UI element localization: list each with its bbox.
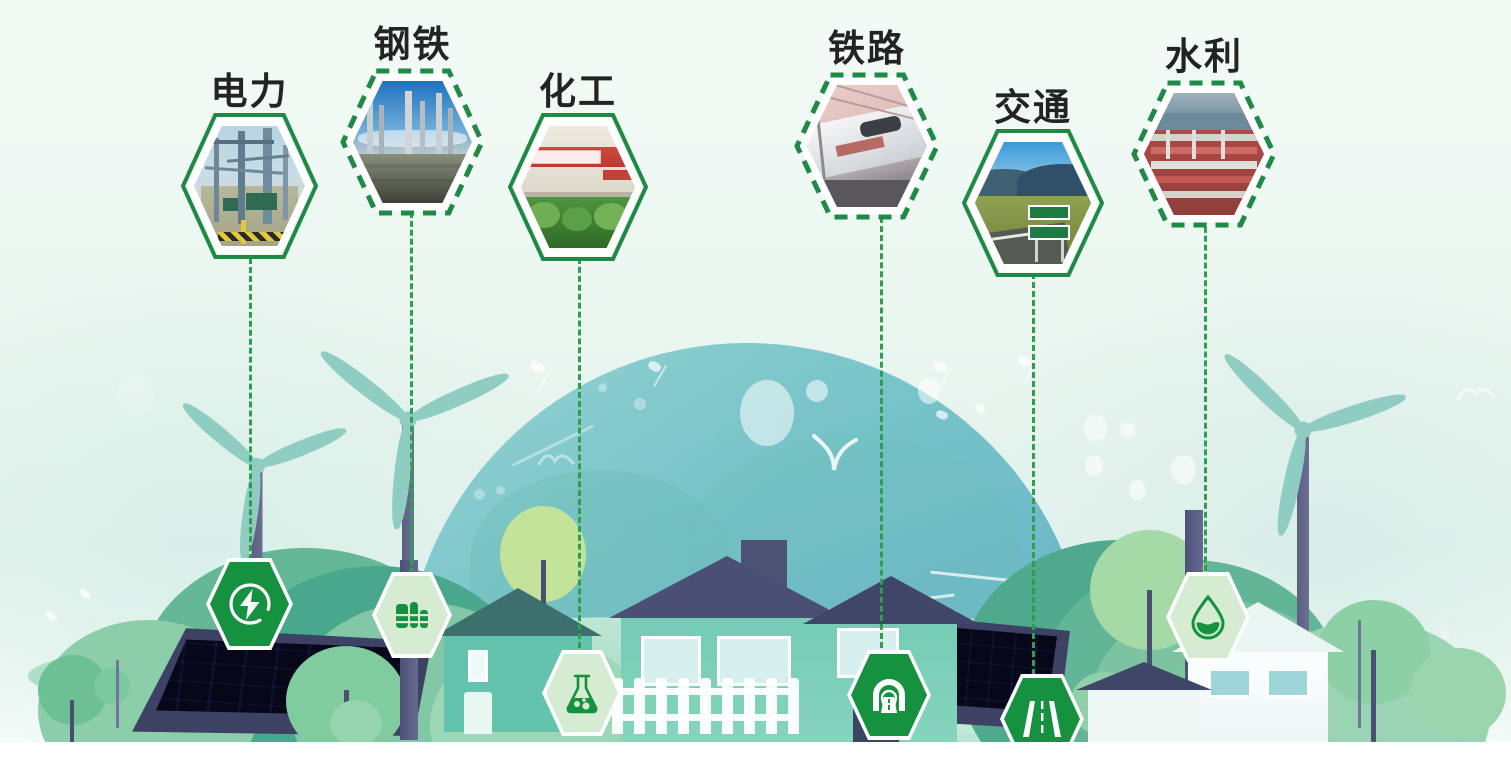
tree-right-3: [1410, 648, 1506, 738]
hex-border-water: [1131, 80, 1277, 228]
shed-right: [1078, 662, 1210, 740]
infographic-canvas: 电力 钢铁: [0, 0, 1511, 764]
house-left-window: [468, 650, 488, 682]
bubble-13: [117, 373, 153, 417]
fence-rail-top: [612, 688, 799, 695]
bubble-16: [1441, 630, 1450, 639]
icon-hex-steel[interactable]: [372, 572, 452, 658]
water-drop-icon: [1166, 572, 1250, 662]
bubble-9: [474, 489, 485, 500]
sector-card-chemical[interactable]: 化工: [508, 113, 648, 261]
sector-label-water: 水利: [1131, 26, 1277, 80]
power-bolt-icon: [206, 558, 293, 650]
flask-icon: [542, 650, 622, 736]
bubble-8: [1129, 480, 1146, 500]
shed-right-wall: [1088, 688, 1200, 742]
fence-picket: [788, 678, 799, 734]
icon-hex-chemical[interactable]: [542, 650, 622, 736]
fence-picket: [700, 678, 711, 734]
connector-line-steel: [410, 212, 413, 592]
sector-card-power[interactable]: 电力: [181, 113, 318, 259]
bubble-3: [918, 378, 940, 404]
tunnel-icon: [847, 650, 931, 740]
connector-line-power: [249, 258, 252, 578]
lamp-post-left: [116, 660, 119, 728]
bubble-12: [634, 398, 646, 410]
bird-icon-1: [812, 432, 858, 474]
hex-border-railway: [794, 72, 940, 220]
shed-right-roof: [1076, 662, 1212, 690]
sector-label-power: 电力: [181, 61, 318, 115]
bubble-6: [1171, 455, 1196, 484]
bubble-1: [740, 380, 794, 446]
bottom-white-band: [0, 742, 1511, 764]
sector-card-water[interactable]: 水利: [1131, 80, 1277, 228]
hex-border-steel: [340, 68, 485, 216]
bird-icon-3: [537, 450, 575, 474]
icon-hex-water[interactable]: [1166, 572, 1250, 662]
tree-trunk-right-2: [1371, 650, 1376, 742]
connector-line-transport: [1032, 264, 1035, 684]
fence-picket: [678, 678, 689, 734]
tree-left-2: [94, 668, 130, 704]
house-right-window-1: [1208, 668, 1252, 698]
bubble-11: [598, 383, 607, 392]
bubble-10: [496, 486, 505, 495]
house-center-roof-side: [803, 576, 979, 624]
connector-line-chemical: [578, 258, 581, 648]
fence-picket: [722, 678, 733, 734]
icon-hex-railway[interactable]: [847, 650, 931, 740]
tree-trunk-left-1: [70, 700, 74, 744]
sector-card-railway[interactable]: 铁路: [794, 72, 940, 220]
house-left-door: [464, 692, 492, 734]
sector-label-steel: 钢铁: [340, 14, 485, 68]
sector-card-transport[interactable]: 交通: [962, 129, 1104, 277]
bubble-5: [1119, 422, 1135, 438]
bird-icon-2: [1456, 382, 1496, 408]
tree-left-4: [330, 700, 382, 746]
fence-picket: [634, 678, 645, 734]
connector-line-railway: [880, 208, 883, 648]
connector-line-water: [1204, 218, 1207, 580]
storage-tanks-icon: [372, 572, 452, 658]
sector-label-chemical: 化工: [508, 61, 648, 115]
fence-picket: [744, 678, 755, 734]
icon-hex-power[interactable]: [206, 558, 293, 650]
fence-picket: [656, 678, 667, 734]
fence-picket: [766, 678, 777, 734]
bubble-2: [806, 380, 828, 402]
bubble-7: [1085, 455, 1103, 476]
house-left-roof: [434, 588, 602, 636]
sector-label-transport: 交通: [962, 77, 1104, 131]
bubble-4: [1084, 414, 1107, 442]
sector-label-railway: 铁路: [794, 18, 940, 72]
lamp-post-right: [1358, 620, 1361, 728]
house-right-window-2: [1266, 668, 1310, 698]
sector-card-steel[interactable]: 钢铁: [340, 68, 485, 216]
picket-fence: [612, 678, 802, 736]
fence-rail-bottom: [612, 714, 799, 721]
